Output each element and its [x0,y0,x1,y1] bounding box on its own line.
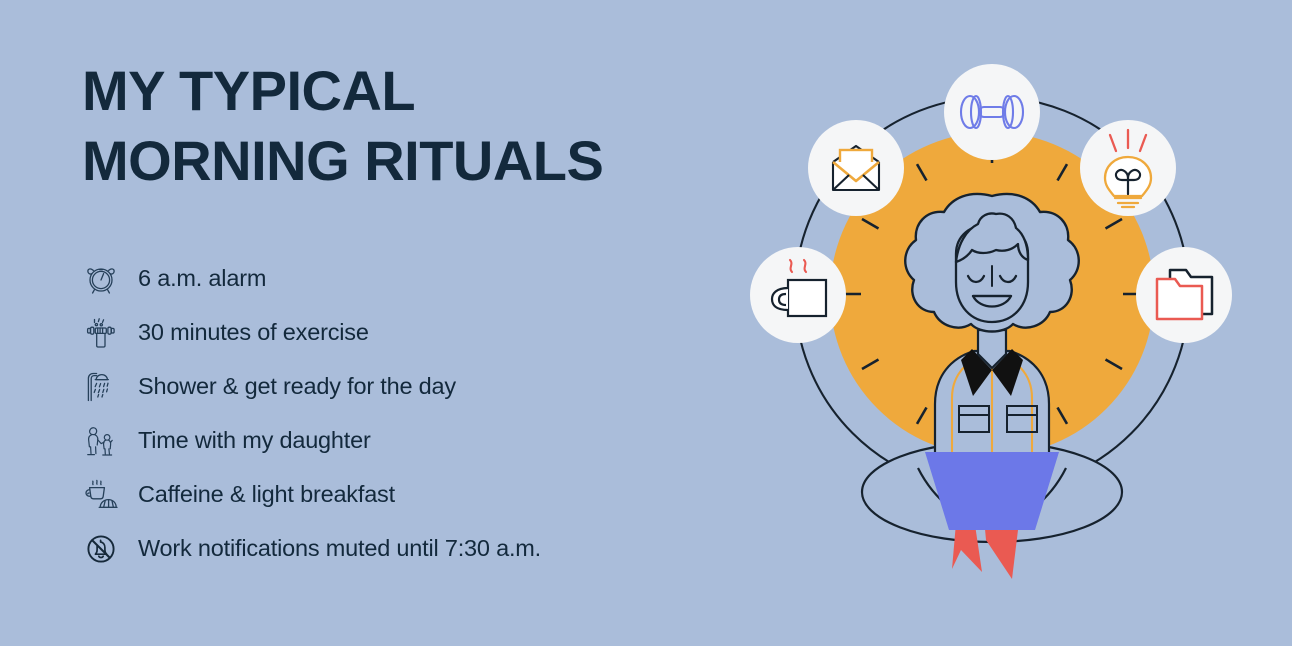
coffee-croissant-icon [78,472,124,518]
steam-right [804,260,806,272]
morning-ritual-illustration [730,18,1290,628]
alarm-clock-icon [78,256,124,302]
folder-icon [1157,279,1202,319]
list-item: 6 a.m. alarm [78,252,718,306]
badge-envelope [808,120,904,216]
badge-folder [1136,247,1232,343]
list-item: Time with my daughter [78,414,718,468]
page-title-line-2: MORNING RITUALS [82,126,702,196]
steam-left [790,260,792,272]
list-item-label: Shower & get ready for the day [138,375,456,399]
slide-canvas: MY TYPICAL MORNING RITUALS 6 a.m. alarm [0,0,1292,646]
dumbbell-hand-icon [78,310,124,356]
parent-and-child-icon [78,418,124,464]
list-item: Shower & get ready for the day [78,360,718,414]
badge-dumbbell [944,64,1040,160]
bell-muted-icon [78,526,124,572]
shower-icon [78,364,124,410]
list-item-label: Time with my daughter [138,429,371,453]
list-item: Caffeine & light breakfast [78,468,718,522]
list-item: 30 minutes of exercise [78,306,718,360]
list-item: Work notifications muted until 7:30 a.m. [78,522,718,576]
coffee-mug-icon [788,280,826,316]
list-item-label: 6 a.m. alarm [138,267,266,291]
page-title-line-1: MY TYPICAL [82,56,702,126]
list-item-label: Work notifications muted until 7:30 a.m. [138,537,541,561]
list-item-label: 30 minutes of exercise [138,321,369,345]
badge-coffee [750,247,846,343]
list-item-label: Caffeine & light breakfast [138,483,395,507]
headline-block: MY TYPICAL MORNING RITUALS [82,56,702,196]
badge-lightbulb [1080,120,1176,216]
page-title: MY TYPICAL MORNING RITUALS [82,56,702,196]
ritual-list: 6 a.m. alarm 30 minutes of exercise [78,252,718,576]
